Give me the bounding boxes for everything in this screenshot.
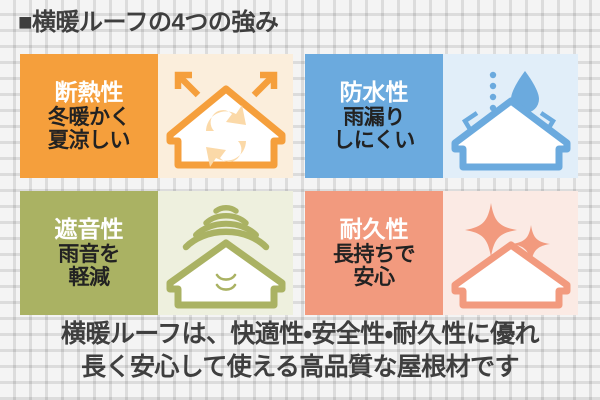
card-text-pane: 防水性 雨漏り しにくい [305, 54, 443, 178]
card-icon-pane [158, 191, 293, 315]
card-line-1: 長持ちで [333, 243, 415, 267]
card-line-2: 夏涼しい [48, 129, 130, 153]
footer-line-1: 横暖ルーフは、快適性・安全性・耐久性に優れ [0, 318, 600, 351]
card-title: 防水性 [340, 81, 409, 105]
feature-card-waterproof[interactable]: 防水性 雨漏り しにくい [305, 54, 578, 178]
feature-card-soundproof[interactable]: 遮音性 雨音を 軽減 [20, 191, 293, 315]
feature-card-grid: 断熱性 冬暖かく 夏涼しい [20, 54, 578, 315]
card-line-1: 雨漏り [343, 106, 405, 130]
card-row-top: 断熱性 冬暖かく 夏涼しい [20, 54, 578, 178]
card-icon-pane [443, 191, 578, 315]
feature-card-insulation[interactable]: 断熱性 冬暖かく 夏涼しい [20, 54, 293, 178]
card-line-2: 軽減 [69, 266, 110, 290]
house-heat-exchange-icon [162, 61, 290, 171]
card-title: 遮音性 [55, 218, 124, 242]
summary-footer: 横暖ルーフは、快適性・安全性・耐久性に優れ 長く安心して使える高品質な屋根材です [0, 318, 600, 384]
card-icon-pane [158, 54, 293, 178]
page-title: ■横暖ルーフの4つの強み [18, 11, 278, 35]
footer-line-2: 長く安心して使える高品質な屋根材です [0, 351, 600, 384]
card-title: 耐久性 [340, 218, 409, 242]
card-text-pane: 遮音性 雨音を 軽減 [20, 191, 158, 315]
card-line-1: 冬暖かく [48, 106, 130, 130]
house-water-droplet-icon [447, 61, 575, 171]
card-text-pane: 耐久性 長持ちで 安心 [305, 191, 443, 315]
card-icon-pane [443, 54, 578, 178]
card-line-1: 雨音を [58, 243, 120, 267]
card-title: 断熱性 [55, 81, 124, 105]
house-sparkle-icon [447, 197, 575, 309]
page-title-text: 横暖ルーフの4つの強み [32, 9, 278, 36]
card-line-2: 安心 [354, 266, 395, 290]
infographic-canvas: ■横暖ルーフの4つの強み 断熱性 冬暖かく 夏涼しい [0, 0, 600, 400]
card-text-pane: 断熱性 冬暖かく 夏涼しい [20, 54, 158, 178]
card-line-2: しにくい [333, 129, 415, 153]
bullet-square-icon: ■ [18, 9, 32, 36]
house-sound-waves-icon [162, 197, 290, 309]
card-row-bottom: 遮音性 雨音を 軽減 [20, 191, 578, 315]
feature-card-durability[interactable]: 耐久性 長持ちで 安心 [305, 191, 578, 315]
